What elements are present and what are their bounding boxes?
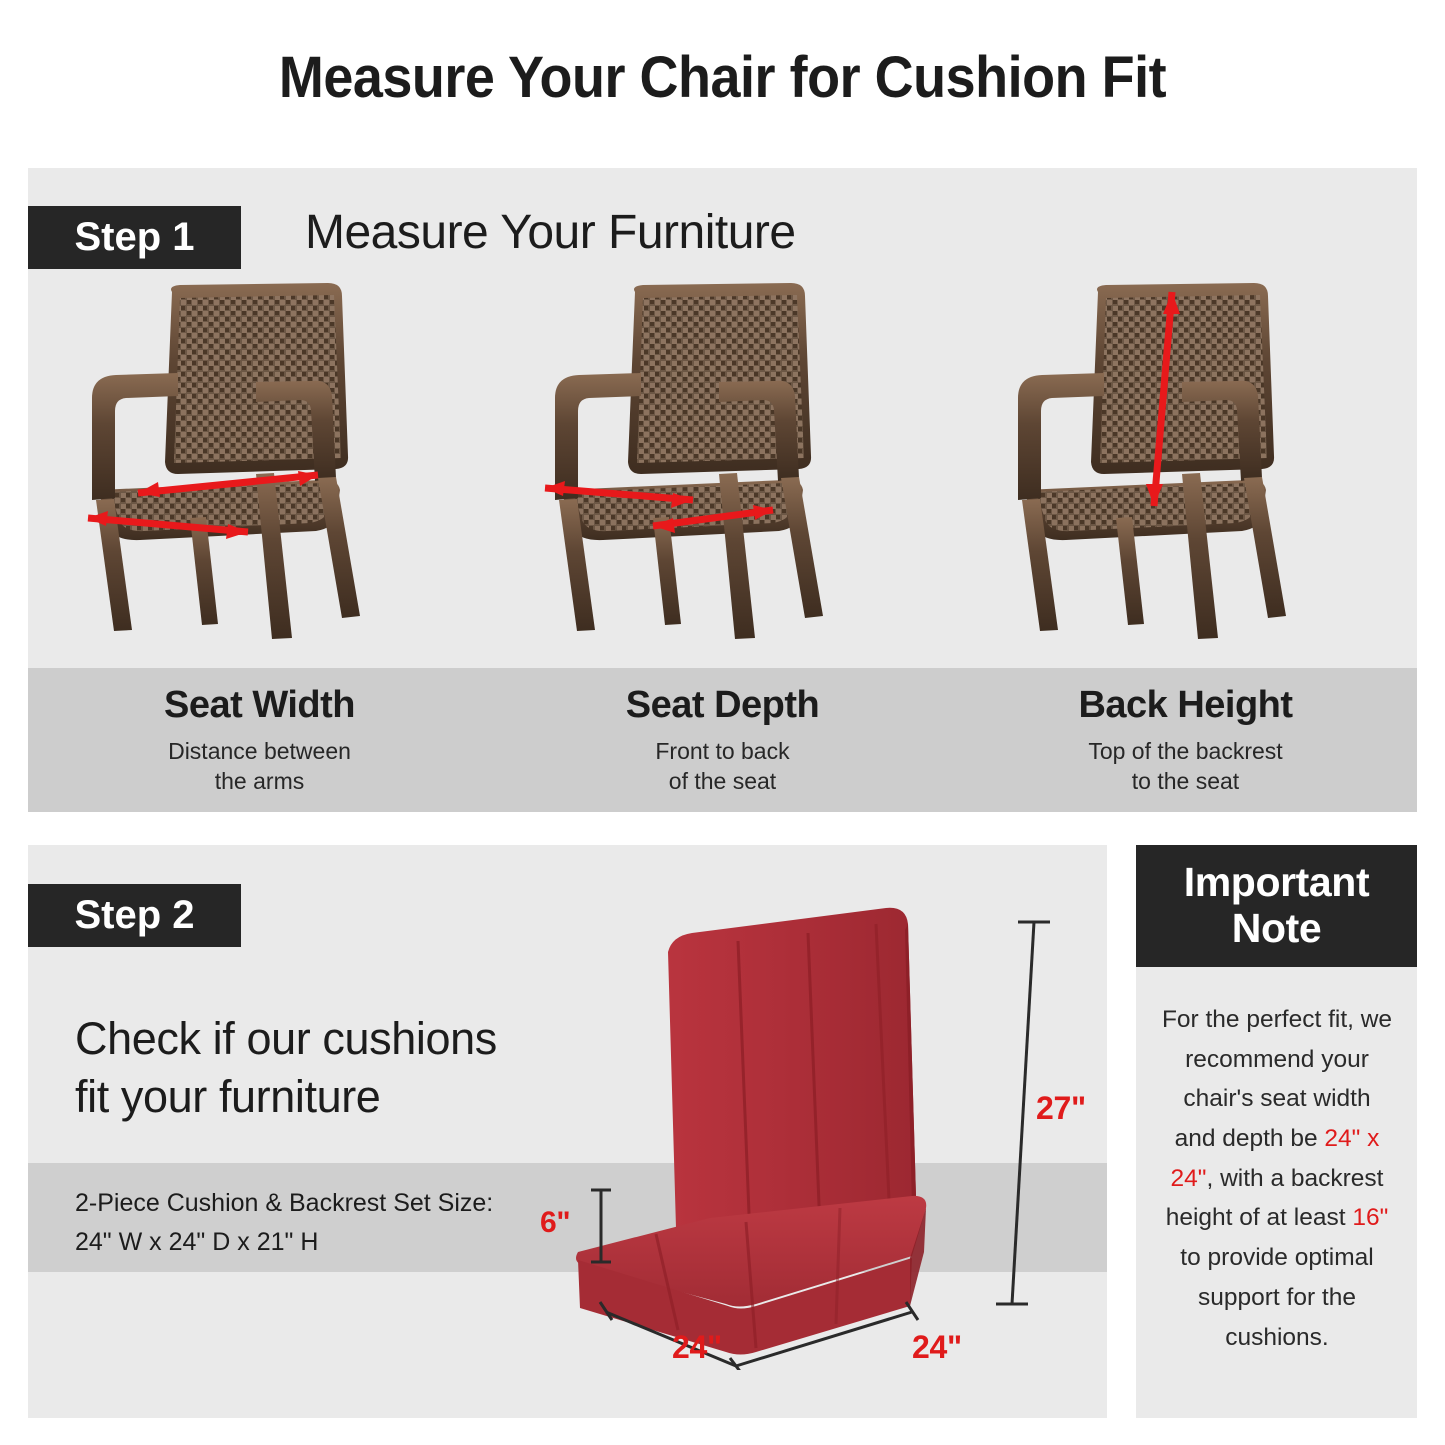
note-fragment-4: to provide optimal support for the cushi… xyxy=(1180,1244,1373,1350)
step1-badge: Step 1 xyxy=(28,206,241,269)
step2-badge: Step 2 xyxy=(28,884,241,947)
chair-back-height-icon xyxy=(986,278,1386,648)
caption-sub: Distance betweenthe arms xyxy=(168,737,351,796)
cushion-size-line2: 24" W x 24" D x 21" H xyxy=(75,1223,493,1262)
cushion-size-text: 2-Piece Cushion & Backrest Set Size: 24"… xyxy=(75,1184,493,1262)
caption-back-height: Back Height Top of the backrestto the se… xyxy=(954,668,1417,812)
chair-seat-width xyxy=(28,278,491,668)
cushion-size-line1: 2-Piece Cushion & Backrest Set Size: xyxy=(75,1184,493,1223)
chair-seat-depth-icon xyxy=(523,278,923,648)
step1-heading: Measure Your Furniture xyxy=(305,205,796,260)
dimension-label-thickness: 6" xyxy=(540,1206,570,1240)
thickness-dimension-line xyxy=(586,1186,616,1266)
caption-sub: Top of the backrestto the seat xyxy=(1088,737,1282,796)
page-title: Measure Your Chair for Cushion Fit xyxy=(51,44,1395,111)
caption-title: Seat Depth xyxy=(626,684,819,727)
dimension-label-width: 24" xyxy=(672,1329,722,1366)
infographic-page: Measure Your Chair for Cushion Fit Step … xyxy=(0,0,1445,1445)
chair-illustration-row xyxy=(28,278,1417,668)
cushion-set-illustration xyxy=(560,900,1120,1370)
chair-seat-width-icon xyxy=(60,278,460,648)
chair-back-height xyxy=(954,278,1417,668)
caption-title: Seat Width xyxy=(164,684,355,727)
important-note-header: Important Note xyxy=(1136,845,1417,967)
note-fragment-3: 16" xyxy=(1352,1204,1388,1231)
dimension-label-depth: 24" xyxy=(912,1329,962,1366)
caption-sub: Front to backof the seat xyxy=(655,737,789,796)
measurement-caption-band: Seat Width Distance betweenthe arms Seat… xyxy=(28,668,1417,812)
caption-title: Back Height xyxy=(1078,684,1292,727)
caption-seat-depth: Seat Depth Front to backof the seat xyxy=(491,668,954,812)
caption-seat-width: Seat Width Distance betweenthe arms xyxy=(28,668,491,812)
chair-seat-depth xyxy=(491,278,954,668)
important-note-body: For the perfect fit, we recommend your c… xyxy=(1160,1000,1394,1357)
dimension-label-height: 27" xyxy=(1036,1090,1086,1127)
